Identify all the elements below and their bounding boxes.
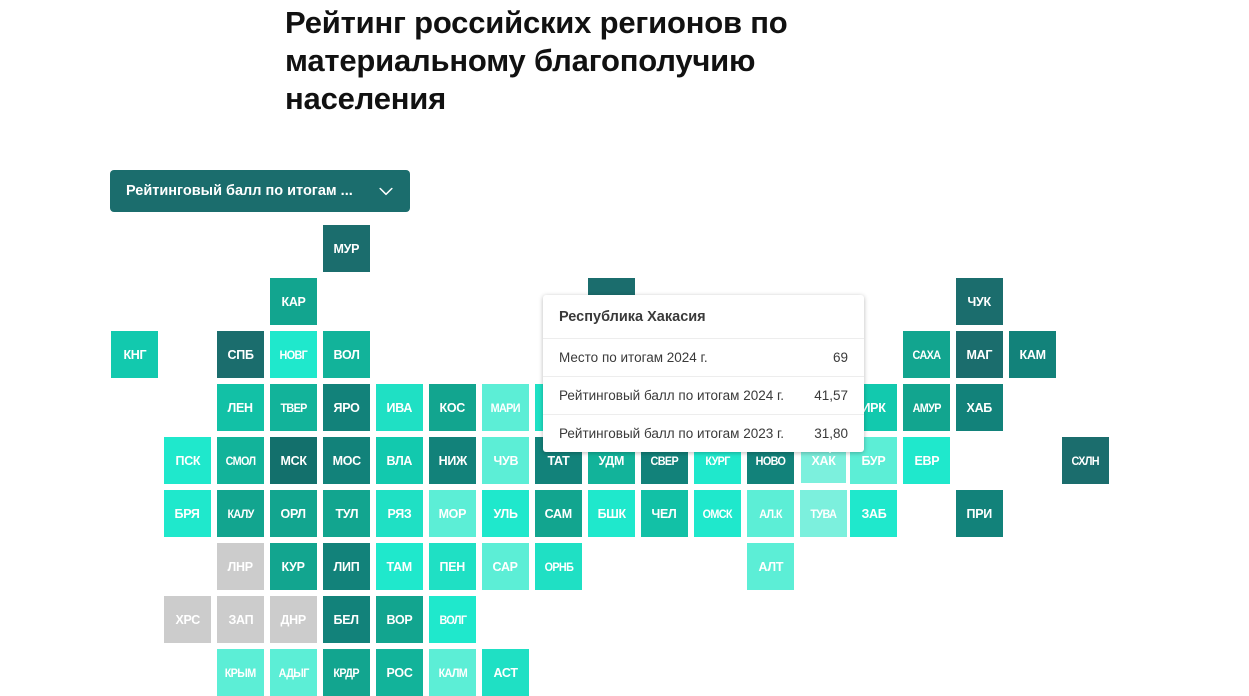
region-tile-label: ДНР xyxy=(281,613,306,626)
region-tile[interactable]: КАЛМ xyxy=(429,649,476,696)
region-tile-label: АМУР xyxy=(912,402,940,414)
region-tile-label: САМ xyxy=(545,507,572,520)
region-tile-label: КНГ xyxy=(123,348,146,361)
region-tile[interactable]: СХЛН xyxy=(1062,437,1109,484)
region-tile[interactable]: КОС xyxy=(429,384,476,431)
region-tile-label: ТУВА xyxy=(811,508,837,520)
region-tile[interactable]: МАГ xyxy=(956,331,1003,378)
region-tile-label: СВЕР xyxy=(651,455,678,467)
region-tile-label: БЕЛ xyxy=(334,613,359,626)
region-tile[interactable]: МСК xyxy=(270,437,317,484)
region-tile-label: ХАК xyxy=(811,454,835,467)
region-tile-label: ЧУВ xyxy=(493,454,518,467)
region-tile-label: АСТ xyxy=(493,666,517,679)
region-tile[interactable]: АСТ xyxy=(482,649,529,696)
tooltip-pointer-arrow xyxy=(814,440,846,453)
region-tile-label: ЗАП xyxy=(228,613,253,626)
region-tile-label: БУР xyxy=(862,454,886,467)
region-tile-label: ЛНР xyxy=(228,560,253,573)
tooltip-title: Республика Хакасия xyxy=(543,295,864,339)
region-tile[interactable]: СПБ xyxy=(217,331,264,378)
region-tile[interactable]: КУР xyxy=(270,543,317,590)
region-tile[interactable]: ЗАП xyxy=(217,596,264,643)
region-tile-label: КУР xyxy=(282,560,305,573)
region-tile-label: ИРК xyxy=(861,401,885,414)
region-tile-label: КОС xyxy=(440,401,465,414)
region-tile[interactable]: ВОЛ xyxy=(323,331,370,378)
region-tile[interactable]: ЕВР xyxy=(903,437,950,484)
region-tile[interactable]: БЕЛ xyxy=(323,596,370,643)
region-tile-label: ЕВР xyxy=(914,454,939,467)
region-tile[interactable]: АЛТ xyxy=(747,543,794,590)
region-tile[interactable]: ЛНР xyxy=(217,543,264,590)
region-tile[interactable]: ХАБ xyxy=(956,384,1003,431)
region-tile-label: НОВГ xyxy=(280,349,308,361)
region-tile-label: СХЛН xyxy=(1072,455,1099,467)
tooltip-row-value: 31,80 xyxy=(800,426,848,441)
region-tile-label: ВЛА xyxy=(387,454,413,467)
region-tile[interactable]: РОС xyxy=(376,649,423,696)
region-tile-label: АЛ.К xyxy=(759,508,782,520)
region-tile[interactable]: ОРНБ xyxy=(535,543,582,590)
region-tile-label: ЧЕЛ xyxy=(652,507,677,520)
region-tile[interactable]: КРДР xyxy=(323,649,370,696)
region-tile-label: МСК xyxy=(280,454,306,467)
region-tile-label: СМОЛ xyxy=(226,455,256,467)
region-tile[interactable]: ЛИП xyxy=(323,543,370,590)
region-tile[interactable]: КНГ xyxy=(111,331,158,378)
region-tile[interactable]: УЛЬ xyxy=(482,490,529,537)
tooltip-row: Рейтинговый балл по итогам 2024 г. 41,57 xyxy=(543,377,864,415)
region-tile-label: ТАМ xyxy=(387,560,412,573)
tooltip-row-key: Место по итогам 2024 г. xyxy=(559,350,708,365)
region-tile[interactable]: КАМ xyxy=(1009,331,1056,378)
region-tile-label: НИЖ xyxy=(438,454,466,467)
tooltip-row: Место по итогам 2024 г. 69 xyxy=(543,339,864,377)
region-tile[interactable]: ВОЛГ xyxy=(429,596,476,643)
region-tile-label: КАР xyxy=(281,295,305,308)
region-tile[interactable]: ЧУВ xyxy=(482,437,529,484)
region-tile-label: КАЛМ xyxy=(438,667,467,679)
region-tile[interactable]: ВОР xyxy=(376,596,423,643)
region-tile[interactable]: ОРЛ xyxy=(270,490,317,537)
region-tile[interactable]: ТВЕР xyxy=(270,384,317,431)
region-tile[interactable]: ПРИ xyxy=(956,490,1003,537)
region-tile-label: РЯЗ xyxy=(388,507,412,520)
region-tile[interactable]: НОВГ xyxy=(270,331,317,378)
region-tile[interactable]: КАР xyxy=(270,278,317,325)
region-tile-label: УЛЬ xyxy=(493,507,517,520)
region-tile[interactable]: ТУЛ xyxy=(323,490,370,537)
region-tile[interactable]: АДЫГ xyxy=(270,649,317,696)
region-tile[interactable]: ТАМ xyxy=(376,543,423,590)
tooltip-row-value: 69 xyxy=(819,350,848,365)
region-tile[interactable]: АЛ.К xyxy=(747,490,794,537)
region-tile-label: ВОР xyxy=(387,613,413,626)
region-tile-label: ПСК xyxy=(175,454,200,467)
region-tile[interactable]: ЯРО xyxy=(323,384,370,431)
region-tile-label: КРДР xyxy=(334,667,359,679)
region-tile-label: КРЫМ xyxy=(225,667,256,679)
region-tile-label: МАРИ xyxy=(491,402,520,414)
region-tile-label: САХА xyxy=(913,349,941,361)
region-tile[interactable]: АМУР xyxy=(903,384,950,431)
region-tile[interactable]: БРЯ xyxy=(164,490,211,537)
region-tile-label: МОС xyxy=(332,454,360,467)
region-tile[interactable]: ПСК xyxy=(164,437,211,484)
region-tile-label: ЗАБ xyxy=(861,507,886,520)
region-tooltip: Республика Хакасия Место по итогам 2024 … xyxy=(543,295,864,452)
region-tile-label: МОР xyxy=(439,507,467,520)
region-tile-label: ПЕН xyxy=(440,560,465,573)
region-tile-label: САР xyxy=(493,560,518,573)
region-tile-label: НОВО xyxy=(756,455,786,467)
region-tile-label: МАГ xyxy=(967,348,993,361)
region-tile[interactable]: ПЕН xyxy=(429,543,476,590)
region-tile-label: РОС xyxy=(386,666,412,679)
region-tile[interactable]: САМ xyxy=(535,490,582,537)
region-tile-label: ЯРО xyxy=(334,401,360,414)
region-tile-label: ТАТ xyxy=(548,454,570,467)
region-tile[interactable]: КАЛУ xyxy=(217,490,264,537)
region-tile-label: ПРИ xyxy=(967,507,992,520)
region-tile[interactable]: ЧЕЛ xyxy=(641,490,688,537)
region-tile[interactable]: НИЖ xyxy=(429,437,476,484)
region-tile-label: СПБ xyxy=(227,348,253,361)
region-tile-label: КАЛУ xyxy=(227,508,253,520)
region-tile[interactable]: ЛЕН xyxy=(217,384,264,431)
region-tile-label: ОРНБ xyxy=(544,561,573,573)
region-tile[interactable]: РЯЗ xyxy=(376,490,423,537)
region-tile-label: УДМ xyxy=(599,454,625,467)
region-tile[interactable]: ЧУК xyxy=(956,278,1003,325)
region-tile-label: ИВА xyxy=(387,401,413,414)
tooltip-row-key: Рейтинговый балл по итогам 2024 г. xyxy=(559,388,784,403)
region-tile-label: ЛИП xyxy=(334,560,360,573)
region-tile-label: ХАБ xyxy=(967,401,992,414)
region-tile-label: ХРС xyxy=(175,613,199,626)
region-tile[interactable]: ИВА xyxy=(376,384,423,431)
region-tile[interactable]: КРЫМ xyxy=(217,649,264,696)
region-tile-label: ТУЛ xyxy=(335,507,358,520)
region-tile-label: МУР xyxy=(334,242,360,255)
region-tile[interactable]: ОМСК xyxy=(694,490,741,537)
region-tile-label: ОРЛ xyxy=(281,507,306,520)
region-tile[interactable]: МОС xyxy=(323,437,370,484)
region-tile-label: АЛТ xyxy=(758,560,783,573)
region-tile[interactable]: ТУВА xyxy=(800,490,847,537)
region-tile-label: ЧУК xyxy=(968,295,991,308)
region-tile-label: КАМ xyxy=(1019,348,1045,361)
region-tile[interactable]: ХРС xyxy=(164,596,211,643)
region-tile-label: ТВЕР xyxy=(280,402,306,414)
region-tile-label: БШК xyxy=(597,507,625,520)
region-tile-label: ЛЕН xyxy=(228,401,253,414)
region-tile[interactable]: МУР xyxy=(323,225,370,272)
region-tile-label: ВОЛ xyxy=(333,348,359,361)
region-tile-label: ОМСК xyxy=(703,508,732,520)
region-tile[interactable]: ДНР xyxy=(270,596,317,643)
region-tile-label: АДЫГ xyxy=(278,667,308,679)
region-tile[interactable]: САХА xyxy=(903,331,950,378)
region-tile[interactable]: БШК xyxy=(588,490,635,537)
tooltip-row-key: Рейтинговый балл по итогам 2023 г. xyxy=(559,426,784,441)
region-tile-label: КУРГ xyxy=(705,455,729,467)
tooltip-row-value: 41,57 xyxy=(800,388,848,403)
region-tile[interactable]: МАРИ xyxy=(482,384,529,431)
region-tile-label: БРЯ xyxy=(175,507,200,520)
region-tile[interactable]: СМОЛ xyxy=(217,437,264,484)
region-tile-label: ВОЛГ xyxy=(439,614,466,626)
region-tile[interactable]: ЗАБ xyxy=(850,490,897,537)
region-tile[interactable]: САР xyxy=(482,543,529,590)
region-tile[interactable]: МОР xyxy=(429,490,476,537)
region-tile[interactable]: ВЛА xyxy=(376,437,423,484)
